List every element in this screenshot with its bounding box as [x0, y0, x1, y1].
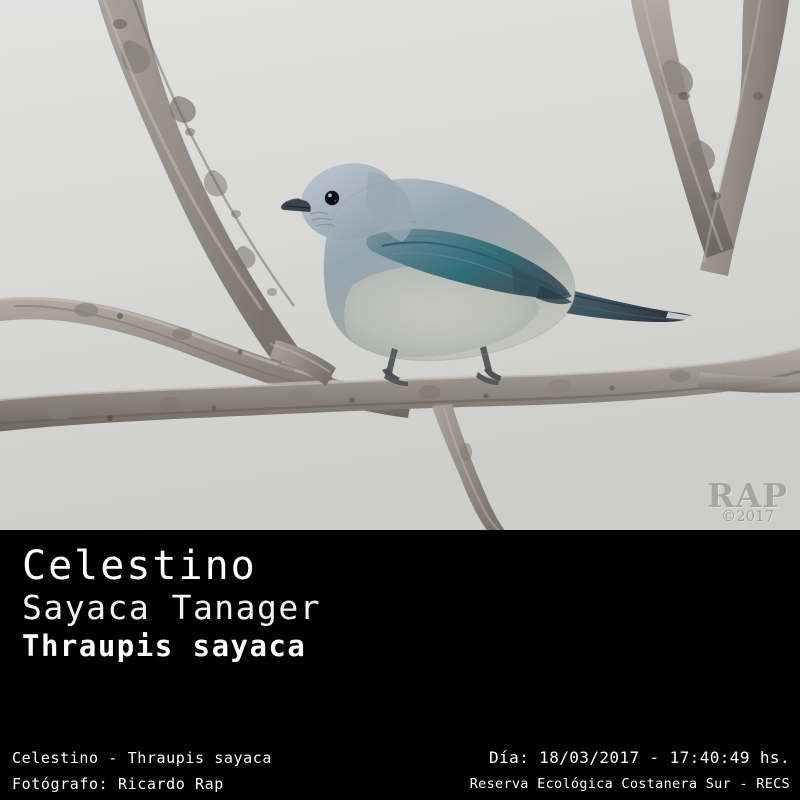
- common-name-english: Sayaca Tanager: [22, 588, 321, 628]
- photo-card: RAP ©2017 Celestino Sayaca Tanager Thrau…: [0, 0, 800, 800]
- footer-left: Celestino - Thraupis sayaca Fotógrafo: R…: [12, 745, 272, 797]
- bird-photograph: RAP ©2017: [0, 0, 800, 530]
- caption-band: Celestino Sayaca Tanager Thraupis sayaca…: [0, 530, 800, 800]
- footer-location-line: Reserva Ecológica Costanera Sur - RECS: [470, 771, 790, 797]
- footer-species-line: Celestino - Thraupis sayaca: [12, 745, 272, 771]
- footer-bar: Celestino - Thraupis sayaca Fotógrafo: R…: [0, 745, 800, 800]
- common-name-spanish: Celestino: [22, 544, 321, 588]
- footer-datetime-line: Día: 18/03/2017 - 17:40:49 hs.: [470, 745, 790, 771]
- photo-artwork: [0, 0, 800, 530]
- footer-right: Día: 18/03/2017 - 17:40:49 hs. Reserva E…: [470, 745, 790, 797]
- species-title-block: Celestino Sayaca Tanager Thraupis sayaca: [22, 544, 321, 664]
- scientific-name: Thraupis sayaca: [22, 628, 321, 664]
- footer-photographer-line: Fotógrafo: Ricardo Rap: [12, 771, 272, 797]
